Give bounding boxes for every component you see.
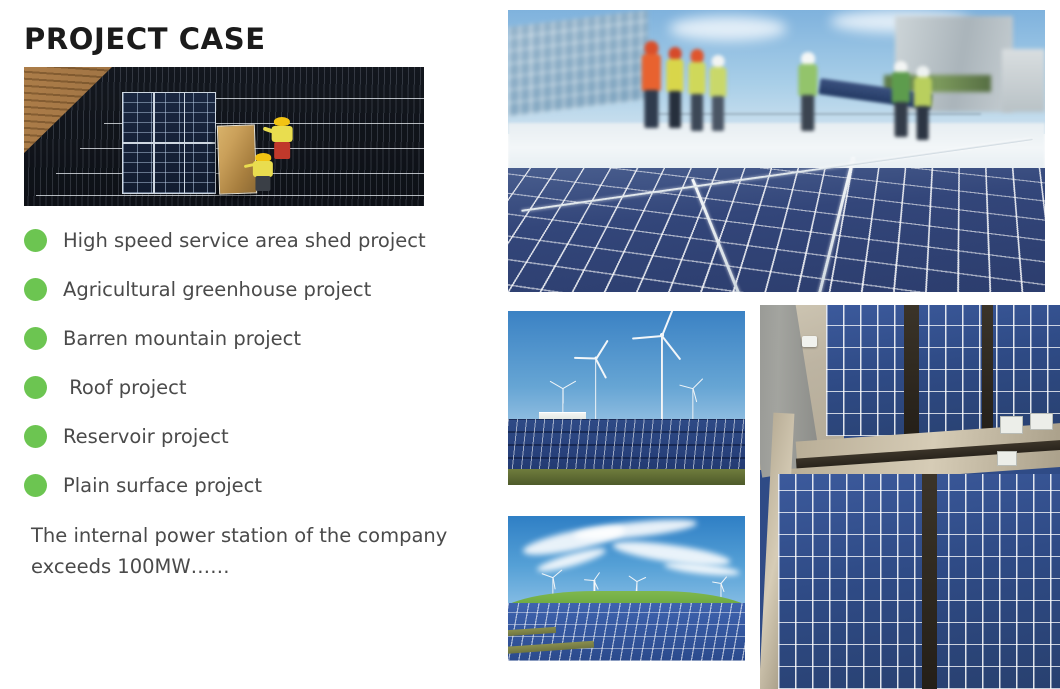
turbine-blade: [584, 579, 594, 581]
worker-legs: [691, 94, 703, 132]
hard-hat-icon: [895, 61, 908, 73]
photo-rooftop-workers: [508, 10, 1045, 292]
worker-legs: [801, 95, 815, 131]
hi-vis-vest: [666, 59, 683, 92]
cloud: [669, 16, 787, 41]
roof-gap: [904, 305, 919, 436]
sky-background: [508, 311, 745, 419]
worker-right-pair: [892, 61, 910, 137]
rooftop-equipment-box: [1000, 416, 1023, 433]
worker-right-pair: [913, 66, 931, 139]
hi-vis-vest: [892, 72, 910, 102]
solar-array-lower: [778, 474, 1060, 689]
turbine-blade: [661, 336, 681, 361]
grass-foreground: [508, 469, 745, 485]
hi-vis-vest: [913, 77, 931, 106]
wind-turbine: [577, 358, 615, 419]
worker-group-left: [642, 41, 660, 128]
hard-hat-icon: [691, 49, 704, 62]
foreground-solar-array: [508, 168, 1045, 292]
white-car: [802, 336, 817, 348]
roof-gap: [922, 474, 937, 689]
turbine-mast: [661, 335, 663, 419]
roof-gap: [982, 305, 993, 436]
far-building: [1002, 49, 1045, 111]
worker-legs: [712, 96, 724, 131]
worker-group-left: [688, 49, 705, 131]
turbine-blade: [595, 358, 607, 378]
worker-legs: [916, 106, 929, 140]
rooftop-equipment-box: [1030, 413, 1053, 430]
worker-legs: [645, 90, 658, 128]
turbine-blade: [562, 388, 563, 403]
worker-group-left: [709, 55, 726, 131]
hard-hat-icon: [801, 52, 815, 65]
hi-vis-vest: [798, 64, 817, 96]
wind-turbine: [679, 388, 707, 419]
photo-aerial-rooftop-array: [760, 305, 1060, 689]
photo-green-hills-solar: [508, 516, 745, 661]
turbine-mast: [595, 358, 597, 419]
worker-group-left: [666, 47, 683, 129]
hard-hat-icon: [669, 47, 682, 60]
hard-hat-icon: [916, 66, 929, 78]
solar-array-upper: [826, 305, 1060, 436]
photo-wind-solar-field: [508, 311, 745, 485]
hard-hat-icon: [645, 41, 658, 55]
hi-vis-vest: [709, 67, 726, 97]
worker-legs: [895, 102, 908, 137]
worker-centre: [798, 52, 817, 131]
turbine-blade: [574, 357, 596, 359]
worker-legs: [669, 91, 681, 129]
rooftop-equipment-box: [997, 451, 1017, 466]
hi-vis-vest: [688, 62, 705, 95]
hi-vis-vest: [642, 54, 660, 91]
photo-grid: [0, 0, 1060, 689]
guard-rail: [658, 113, 980, 115]
glass-facade-building: [508, 10, 648, 117]
hard-hat-icon: [712, 55, 725, 67]
